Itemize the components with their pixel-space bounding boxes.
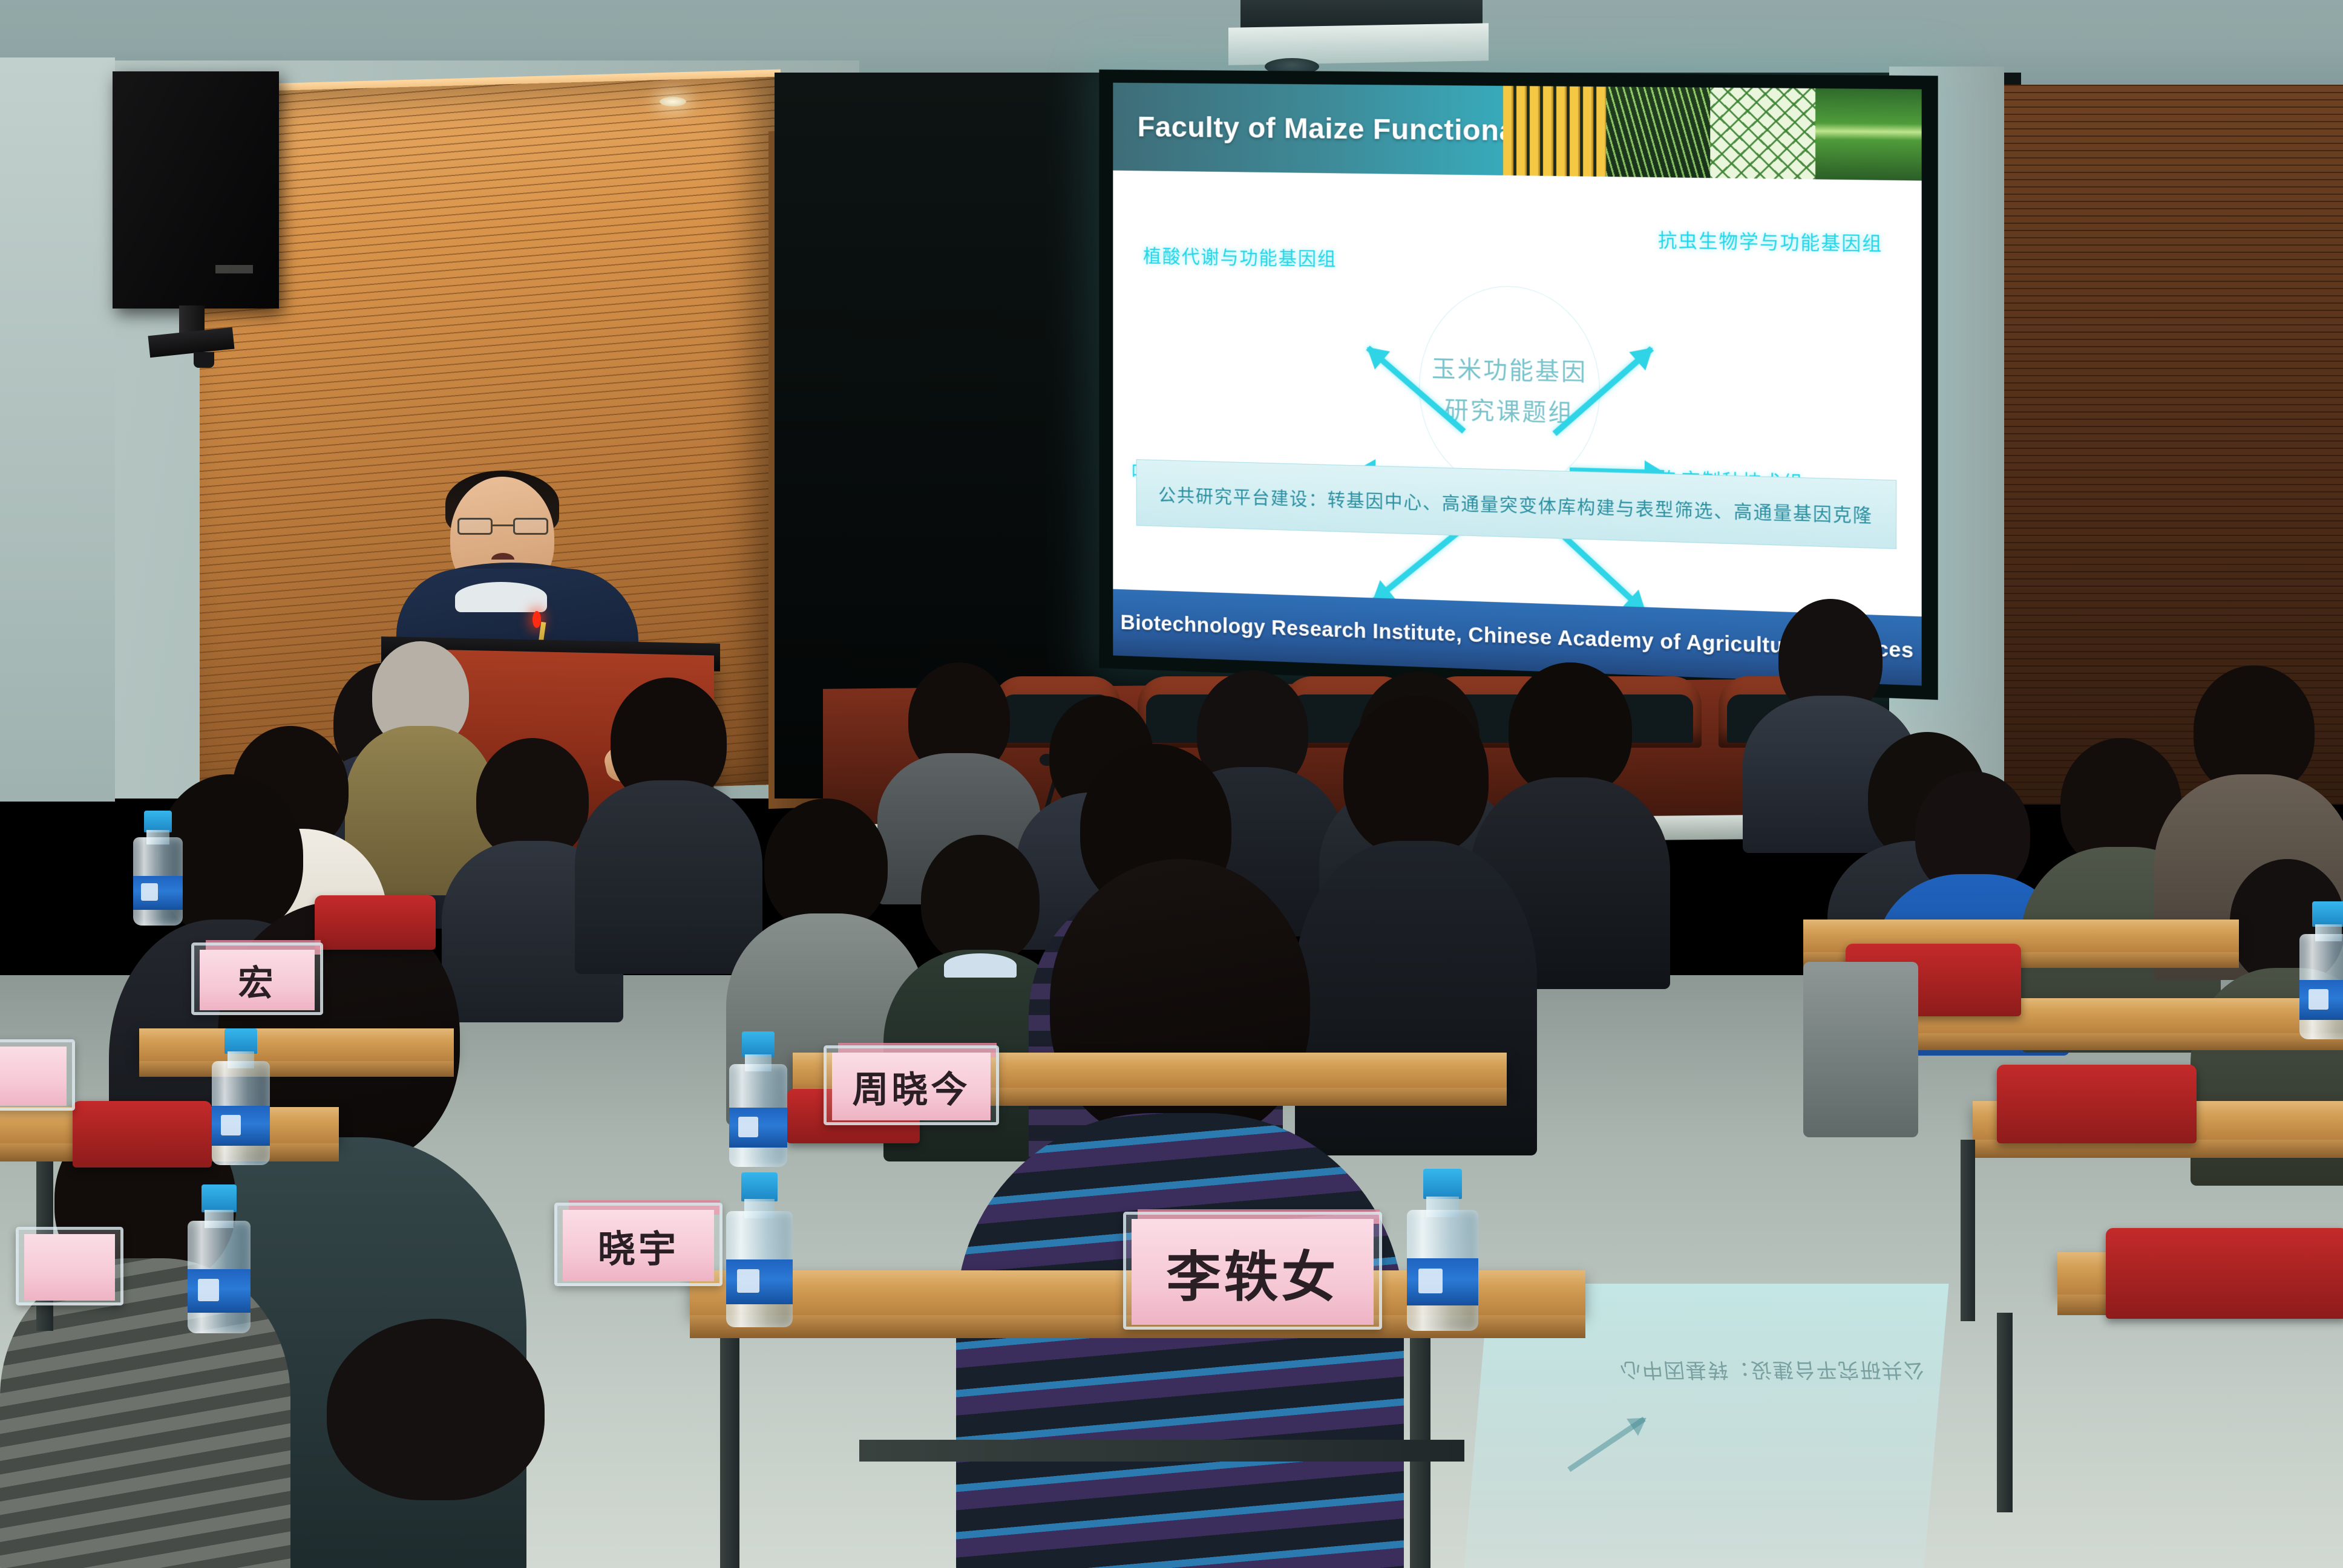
name-card: 李轶女 — [1132, 1219, 1374, 1325]
desk-leg — [859, 1440, 1464, 1462]
audience-person — [230, 1319, 641, 1568]
chair[interactable] — [315, 895, 436, 950]
eyeglasses-icon — [457, 518, 548, 535]
desk-leg — [720, 1338, 739, 1568]
water-bottle[interactable] — [729, 1031, 787, 1167]
name-card-text: 晓宇 — [598, 1218, 679, 1273]
projector-mount-plate — [1228, 23, 1489, 65]
water-bottle[interactable] — [2299, 901, 2343, 1039]
water-bottle[interactable] — [726, 1172, 793, 1327]
desk-edge — [139, 1061, 454, 1077]
desk-row-left — [139, 1028, 454, 1061]
slide-header-image-strip — [1503, 86, 1922, 181]
diagram-center-node: 玉米功能基因 研究课题组 — [1419, 284, 1600, 494]
name-card — [24, 1234, 115, 1301]
center-line-2: 研究课题组 — [1444, 390, 1574, 428]
chair[interactable] — [2106, 1228, 2343, 1319]
ceiling-downlight-icon — [660, 97, 686, 106]
name-card: 宏 — [200, 950, 315, 1010]
person-head — [1343, 696, 1489, 857]
left-wall-plaster — [0, 57, 115, 802]
water-bottle[interactable] — [133, 811, 183, 926]
name-card-text: 宏 — [238, 955, 276, 1005]
water-bottle[interactable] — [188, 1184, 251, 1333]
chair[interactable] — [1997, 1065, 2197, 1143]
person-head — [327, 1319, 545, 1500]
desk-leg — [1961, 1140, 1975, 1321]
diagram-node-top-left: 植酸代谢与功能基因组 — [1143, 241, 1337, 271]
corn-cobs-image — [1503, 86, 1606, 177]
slide-platform-text: 公共研究平台建设：转基因中心、高通量突变体库构建与表型筛选、高通量基因克隆 — [1158, 480, 1873, 528]
desk-edge — [1888, 1033, 2343, 1050]
lecture-hall-scene: Faculty of Maize Functional Genomics 玉米功… — [0, 0, 2343, 1568]
maize-field-image — [1606, 87, 1710, 178]
center-line-1: 玉米功能基因 — [1432, 349, 1587, 388]
desk-leg — [1997, 1313, 2013, 1512]
slide-header-band: Faculty of Maize Functional Genomics — [1113, 83, 1921, 181]
projection-screen: Faculty of Maize Functional Genomics 玉米功… — [1113, 83, 1921, 686]
name-card: 周晓今 — [832, 1053, 991, 1120]
person-torso — [956, 1113, 1404, 1568]
water-bottle[interactable] — [1407, 1169, 1478, 1331]
floor-reflection-text: 公共研究平台建设：转基因中心 — [1547, 1357, 1925, 1387]
name-card-text: 李轶女 — [1167, 1233, 1339, 1312]
speaker-mount-knob — [194, 352, 214, 368]
person-head — [764, 799, 888, 932]
podium-indicator-light-icon — [532, 611, 541, 628]
wall-speaker — [113, 71, 279, 309]
speaker-badge-icon — [215, 265, 253, 273]
cell-tissue-image — [1710, 88, 1815, 180]
diagram-node-top-right: 抗虫生物学与功能基因组 — [1658, 225, 1883, 256]
presenter-shirt-collar — [455, 582, 547, 612]
green-leaf-image — [1815, 88, 1922, 180]
name-card: 晓宇 — [563, 1210, 714, 1281]
slide-diagram: 玉米功能基因 研究课题组 植酸代谢与功能基因组 抗虫生物学与功能基因组 叶酸代谢… — [1113, 171, 1921, 616]
chair[interactable] — [73, 1101, 212, 1168]
name-card — [0, 1047, 67, 1106]
water-bottle[interactable] — [212, 1028, 270, 1165]
chair[interactable] — [1803, 962, 1918, 1137]
name-card-text: 周晓今 — [853, 1060, 971, 1113]
